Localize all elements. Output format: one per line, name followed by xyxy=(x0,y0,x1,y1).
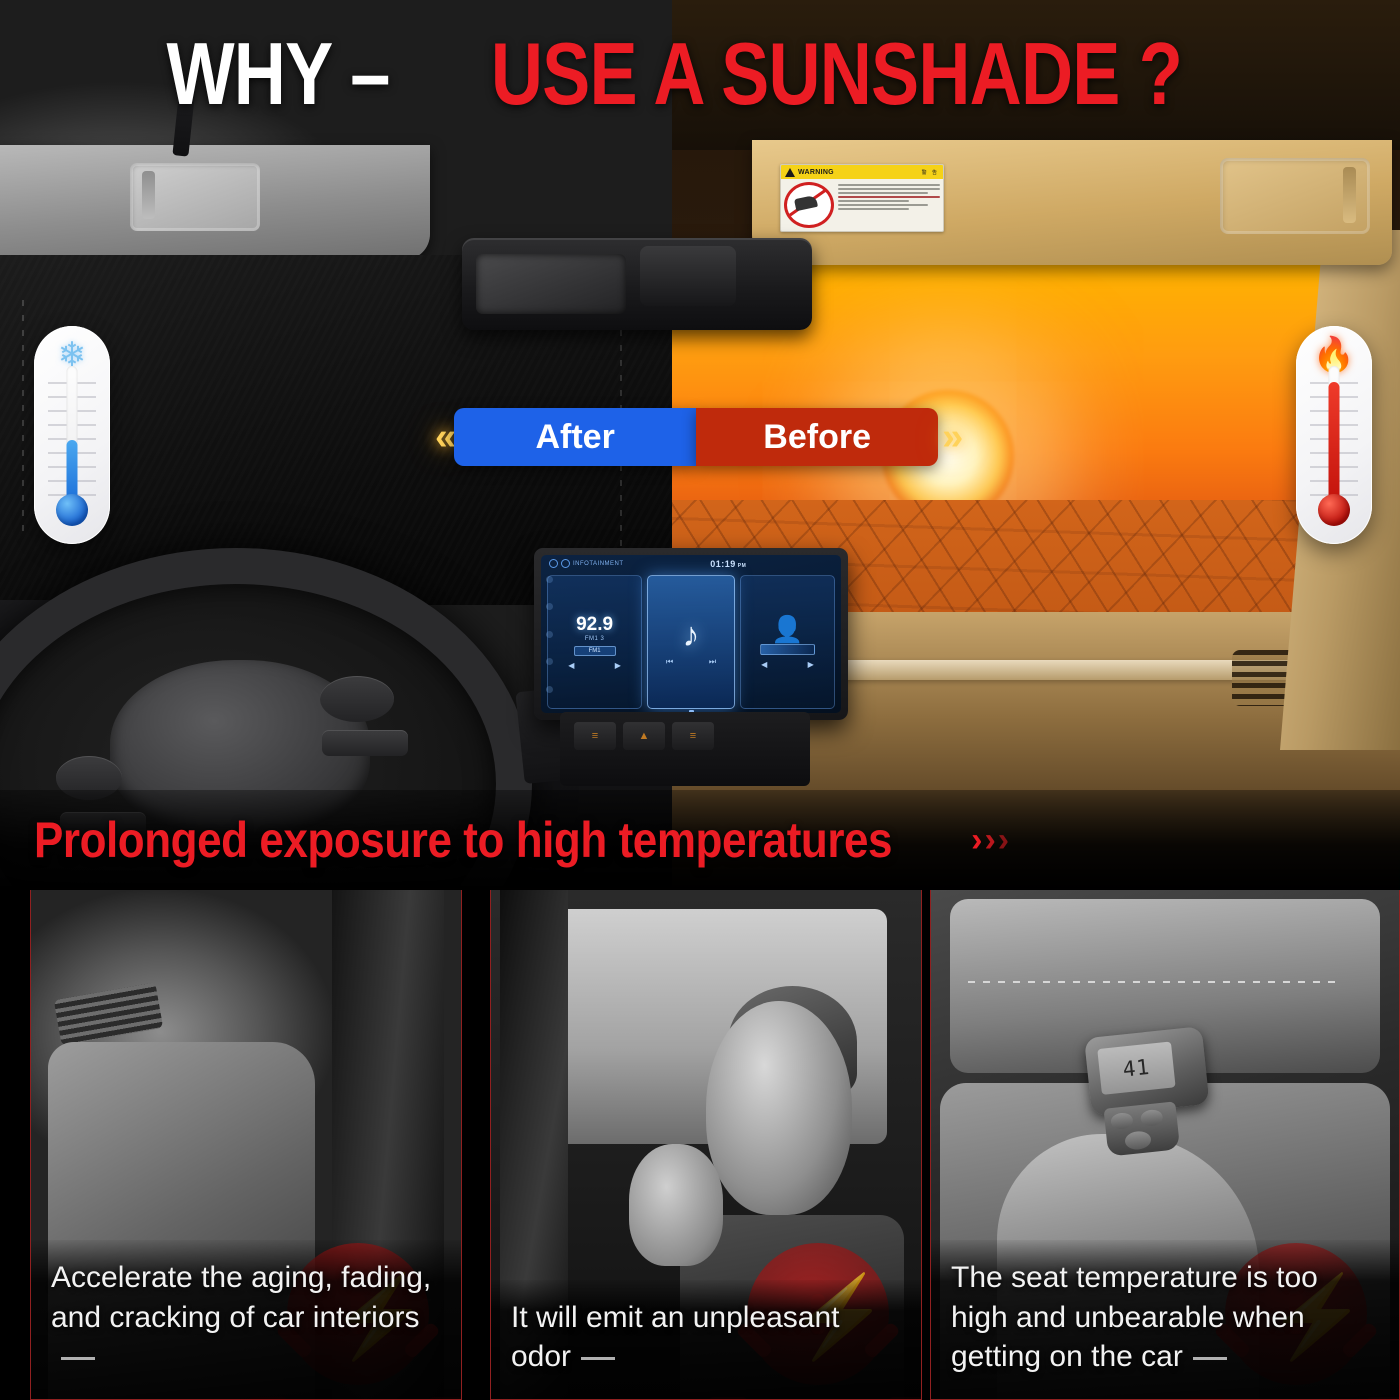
temperature-reading: 41 xyxy=(1122,1056,1151,1080)
benefit-panels: ⚡ Accelerate the aging, fading, and crac… xyxy=(0,888,1400,1400)
no-rear-facing-child-seat-icon xyxy=(784,182,834,228)
chevron-right-icon: » xyxy=(942,418,957,456)
radio-band[interactable]: FM1 xyxy=(574,646,616,656)
before-sun-visor: WARNING 警 告 xyxy=(752,140,1392,265)
infotainment-cards: 92.9 FM1 3 FM1 ◀ ▶ ♪ ⏮ ⏭ xyxy=(541,572,841,709)
thermometer-bulb-cold xyxy=(56,494,88,526)
radio-prev-icon[interactable]: ◀ xyxy=(568,661,574,670)
media-forward-icon[interactable]: ⏭ xyxy=(709,657,716,667)
head-shape xyxy=(706,1001,852,1215)
before-badge[interactable]: Before xyxy=(696,408,938,466)
chevron-right-icon-2: › xyxy=(984,823,995,857)
radio-next-icon[interactable]: ▶ xyxy=(615,661,621,670)
section-subtitle-chevrons: › › › xyxy=(971,823,1009,857)
profile-prev-icon[interactable]: ◀ xyxy=(761,660,767,669)
infrared-thermometer: 41 xyxy=(1084,1026,1214,1158)
infotainment-clock: 01:19PM xyxy=(710,559,746,569)
warning-triangle-icon xyxy=(785,168,795,177)
radio-preset: FM1 3 xyxy=(585,636,605,642)
child-seat-glyph xyxy=(794,195,818,211)
panel-caption-text: Accelerate the aging, fading, and cracki… xyxy=(51,1261,431,1334)
radio-frequency: 92.9 xyxy=(576,615,613,634)
media-controls[interactable]: ⏮ ⏭ xyxy=(648,657,734,667)
panel-unpleasant-odor: ⚡ It will emit an unpleasant odor xyxy=(490,888,922,1400)
warning-label-body xyxy=(781,179,943,231)
after-visor-mirror xyxy=(130,163,260,231)
infotainment-brand-label: INFOTAINMENT xyxy=(573,561,624,567)
air-vent-icon xyxy=(54,982,164,1045)
caption-underscore xyxy=(61,1357,95,1360)
cold-thermometer: ❄ xyxy=(34,326,110,544)
panel-caption: It will emit an unpleasant odor xyxy=(491,1280,921,1399)
after-badge[interactable]: After xyxy=(454,408,696,466)
clock-ampm: PM xyxy=(738,563,747,569)
panel-caption-text: It will emit an unpleasant odor xyxy=(511,1301,840,1374)
rearview-mirror-glass xyxy=(476,254,626,314)
waving-hand-shape xyxy=(629,1144,724,1266)
infotainment-head-unit: INFOTAINMENT 01:19PM 92.9 FM1 3 FM1 ◀ ▶ xyxy=(534,548,848,720)
infrared-thermometer-body: 41 xyxy=(1084,1026,1210,1116)
panel-seat-temperature: 41 ⚡ xyxy=(930,888,1400,1400)
brand-logo-icon-2 xyxy=(561,559,570,568)
panel-interior-aging: ⚡ Accelerate the aging, fading, and crac… xyxy=(30,888,462,1400)
clock-time: 01:19 xyxy=(710,559,736,569)
caption-underscore xyxy=(581,1357,615,1360)
caption-underscore xyxy=(1193,1357,1227,1360)
section-subtitle-banner: Prolonged exposure to high temperatures … xyxy=(0,790,1400,890)
page-title: WHY – USE A SUNSHADE ? xyxy=(0,24,1400,124)
after-sun-visor xyxy=(0,145,430,260)
chevron-left-icon: « xyxy=(435,418,450,456)
panel-caption: Accelerate the aging, fading, and cracki… xyxy=(31,1240,461,1399)
warning-label-header: WARNING 警 告 xyxy=(781,165,943,179)
center-stack-buttons[interactable]: ≡ ▲ ≡ xyxy=(560,712,810,786)
front-defrost-icon[interactable]: ≡ xyxy=(672,722,714,750)
before-after-badges: « After Before » xyxy=(435,408,957,466)
chevron-right-icon-3: › xyxy=(998,823,1009,857)
infotainment-screen: INFOTAINMENT 01:19PM 92.9 FM1 3 FM1 ◀ ▶ xyxy=(541,555,841,713)
before-visor-mirror xyxy=(1220,158,1370,234)
panel-caption-text: The seat temperature is too high and unb… xyxy=(951,1261,1318,1373)
profile-slider[interactable] xyxy=(760,644,814,655)
profile-controls[interactable]: ◀ ▶ xyxy=(741,660,834,669)
person-icon: 👤 xyxy=(771,616,803,642)
center-stack-button-row[interactable]: ≡ ▲ ≡ xyxy=(560,712,810,760)
hazard-lights-icon[interactable]: ▲ xyxy=(623,722,665,750)
title-white-part: WHY – xyxy=(167,23,390,125)
steering-button-right-row xyxy=(322,730,408,756)
media-rewind-icon[interactable]: ⏮ xyxy=(666,657,673,667)
warning-label-cjk-title: 警 告 xyxy=(922,169,939,176)
panel-caption: The seat temperature is too high and unb… xyxy=(931,1240,1399,1399)
music-note-icon: ♪ xyxy=(683,618,700,652)
radio-card[interactable]: 92.9 FM1 3 FM1 ◀ ▶ xyxy=(547,575,642,709)
rearview-mirror xyxy=(462,238,812,330)
thermometer-fill-hot xyxy=(1329,382,1340,510)
rear-defrost-icon[interactable]: ≡ xyxy=(574,722,616,750)
hero-before-after-split: WARNING 警 告 xyxy=(0,0,1400,888)
sunshade-product-poster: WARNING 警 告 xyxy=(0,0,1400,1400)
seat-stitching xyxy=(968,981,1342,983)
thermometer-bulb-hot xyxy=(1318,494,1350,526)
media-card[interactable]: ♪ ⏮ ⏭ xyxy=(647,575,735,709)
warning-label-title: WARNING xyxy=(798,169,834,176)
infotainment-status-bar: INFOTAINMENT 01:19PM xyxy=(541,555,841,572)
visor-warning-label: WARNING 警 告 xyxy=(780,164,944,232)
infotainment-brand: INFOTAINMENT xyxy=(549,559,624,568)
radio-controls[interactable]: ◀ ▶ xyxy=(548,661,641,670)
section-subtitle-text: Prolonged exposure to high temperatures xyxy=(34,811,892,869)
steering-button-right-pad xyxy=(320,676,394,722)
warning-label-text-lines xyxy=(838,182,940,228)
after-stitch-line-left xyxy=(22,300,24,540)
profile-next-icon[interactable]: ▶ xyxy=(808,660,814,669)
title-red-part: USE A SUNSHADE ? xyxy=(490,23,1181,125)
profile-card[interactable]: 👤 ◀ ▶ xyxy=(740,575,835,709)
infrared-thermometer-display: 41 xyxy=(1097,1041,1175,1094)
dashcam-module xyxy=(640,246,736,306)
chevron-right-icon-1: › xyxy=(971,823,982,857)
hot-thermometer: 🔥 xyxy=(1296,326,1372,544)
